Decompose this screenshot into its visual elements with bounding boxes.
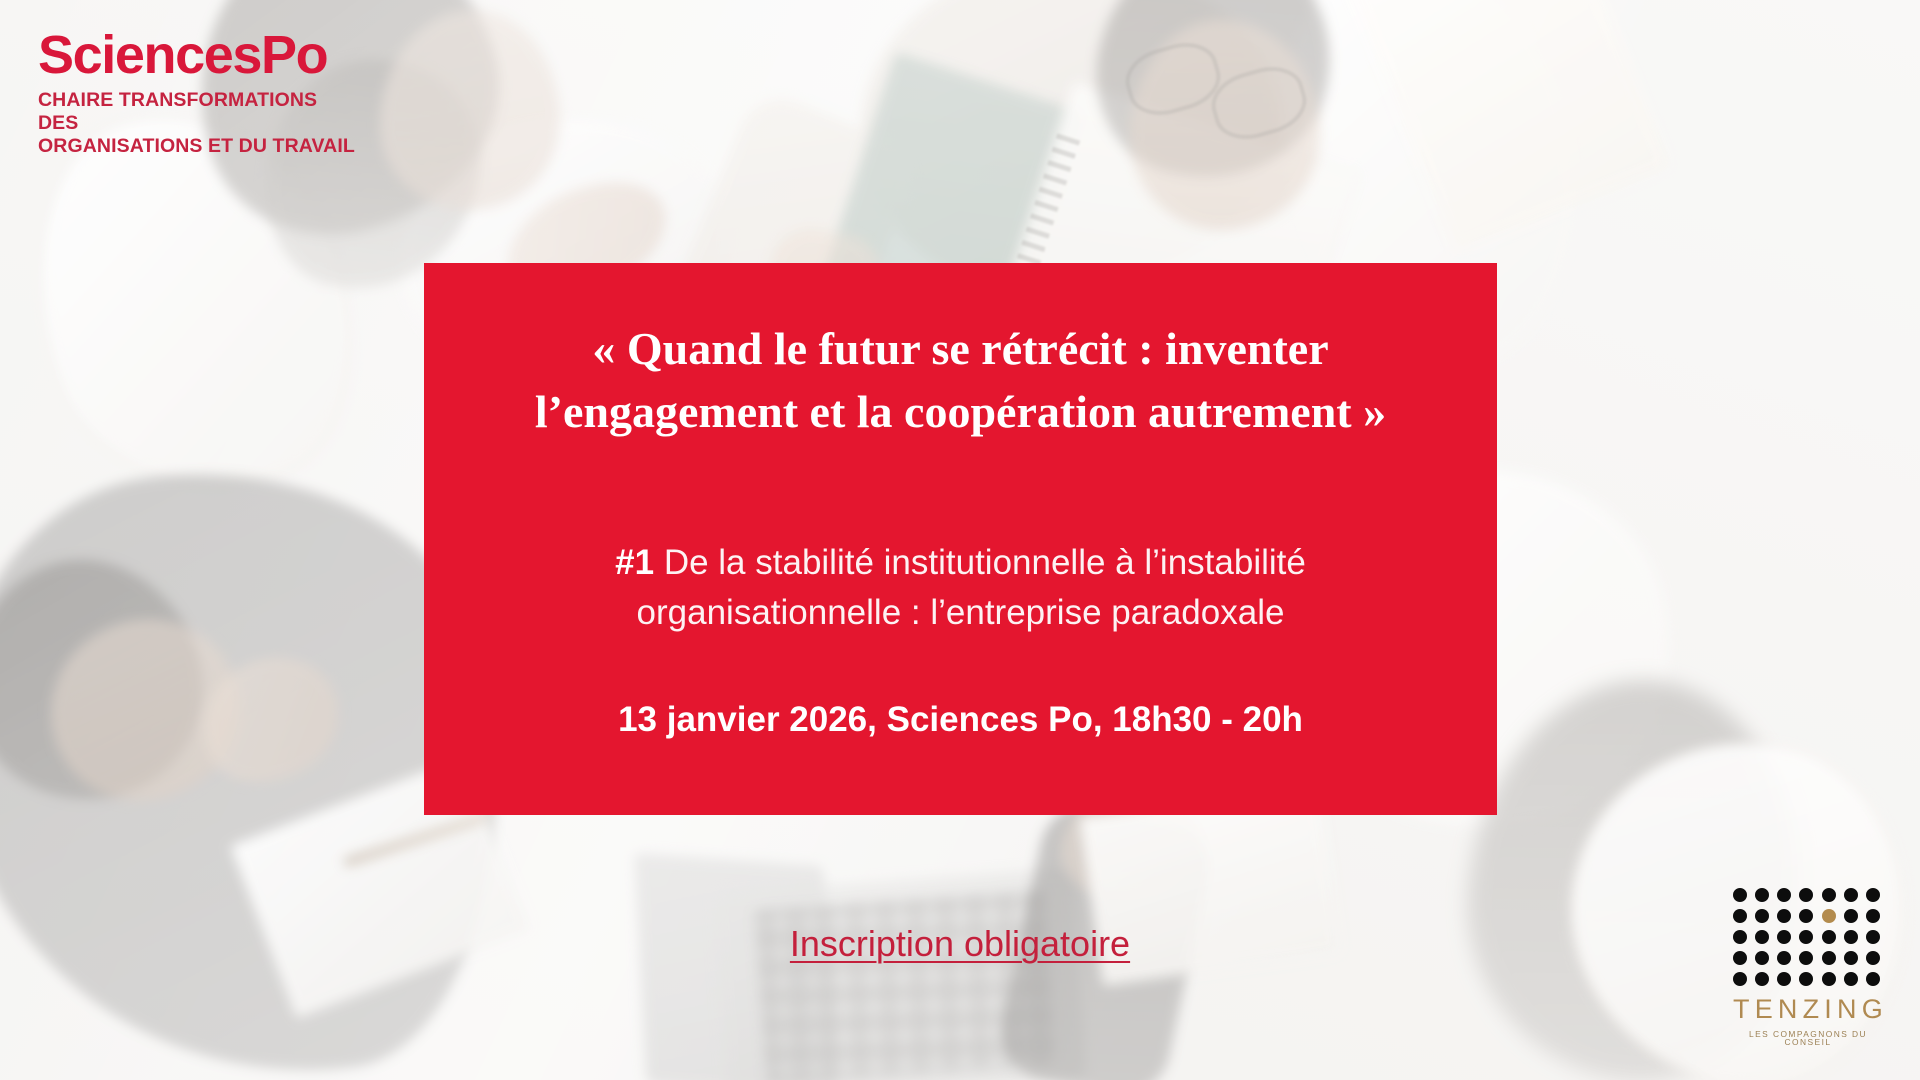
tenzing-dot	[1799, 951, 1813, 965]
tenzing-dot	[1799, 909, 1813, 923]
tenzing-dot	[1777, 930, 1791, 944]
tenzing-tagline: LES COMPAGNONS DU CONSEIL	[1733, 1030, 1883, 1047]
tenzing-dot	[1844, 888, 1858, 902]
tenzing-dot	[1799, 972, 1813, 986]
tenzing-dot	[1844, 930, 1858, 944]
tenzing-dot-highlight	[1822, 909, 1836, 923]
session-subtitle-text: De la stabilité institutionnelle à l’ins…	[637, 543, 1306, 632]
tenzing-dot	[1799, 930, 1813, 944]
sciencespo-chair-subline: CHAIRE TRANSFORMATIONS DES ORGANISATIONS…	[38, 89, 358, 157]
tenzing-dot	[1755, 909, 1769, 923]
red-content-panel: « Quand le futur se rétrécit : inventer …	[424, 263, 1497, 815]
tenzing-dot	[1777, 909, 1791, 923]
tenzing-dot	[1733, 930, 1747, 944]
tenzing-dot	[1733, 972, 1747, 986]
tenzing-dot	[1866, 972, 1880, 986]
tenzing-dot	[1844, 951, 1858, 965]
sciencespo-subline-line-2: ORGANISATIONS ET DU TRAVAIL	[38, 135, 358, 158]
sciencespo-logo: SciencesPo CHAIRE TRANSFORMATIONS DES OR…	[38, 28, 358, 157]
tenzing-dot	[1755, 951, 1769, 965]
tenzing-dot	[1755, 888, 1769, 902]
tenzing-dot	[1733, 951, 1747, 965]
tenzing-dot	[1777, 951, 1791, 965]
tenzing-dot	[1777, 972, 1791, 986]
tenzing-dot	[1866, 951, 1880, 965]
tenzing-dot	[1866, 888, 1880, 902]
event-title: « Quand le futur se rétrécit : inventer …	[535, 317, 1386, 444]
session-number-badge: #1	[615, 543, 654, 582]
sciencespo-subline-line-1: CHAIRE TRANSFORMATIONS DES	[38, 89, 358, 135]
tenzing-dot	[1777, 888, 1791, 902]
tenzing-dot	[1866, 930, 1880, 944]
tenzing-dot-grid	[1733, 888, 1881, 986]
tenzing-logo: TENZING LES COMPAGNONS DU CONSEIL	[1733, 888, 1883, 1047]
event-date-location: 13 janvier 2026, Sciences Po, 18h30 - 20…	[618, 637, 1303, 743]
tenzing-dot	[1822, 930, 1836, 944]
tenzing-dot	[1755, 972, 1769, 986]
event-session-subtitle: #1 De la stabilité institutionnelle à l’…	[521, 444, 1401, 637]
event-title-line-1: « Quand le futur se rétrécit : inventer	[592, 323, 1328, 374]
event-poster: SciencesPo CHAIRE TRANSFORMATIONS DES OR…	[0, 0, 1920, 1080]
sciencespo-wordmark: SciencesPo	[38, 28, 358, 82]
tenzing-dot	[1844, 972, 1858, 986]
tenzing-dot	[1755, 930, 1769, 944]
tenzing-dot	[1733, 909, 1747, 923]
registration-link-container: Inscription obligatoire	[0, 923, 1920, 965]
tenzing-dot	[1822, 972, 1836, 986]
event-title-line-2: l’engagement et la coopération autrement…	[535, 386, 1386, 437]
tenzing-dot	[1844, 909, 1858, 923]
tenzing-dot	[1866, 909, 1880, 923]
tenzing-dot	[1822, 888, 1836, 902]
tenzing-dot	[1733, 888, 1747, 902]
tenzing-dot	[1822, 951, 1836, 965]
tenzing-dot	[1799, 888, 1813, 902]
registration-link[interactable]: Inscription obligatoire	[790, 923, 1130, 964]
tenzing-wordmark: TENZING	[1733, 996, 1883, 1023]
